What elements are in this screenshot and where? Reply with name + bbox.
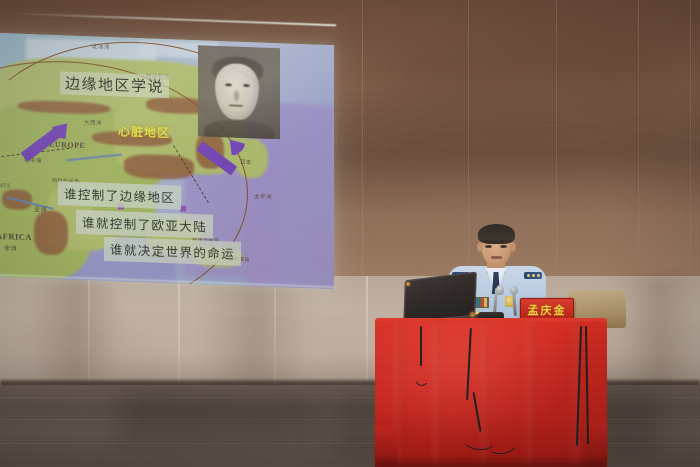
curtain-shade: [620, 276, 700, 386]
map-label-ocean-arctic: 北冰洋: [92, 42, 110, 51]
portrait-eye-left: [225, 83, 232, 86]
map-label-asia: 亚洲: [34, 204, 47, 213]
slide-line-2: 谁就控制了欧亚大陆: [76, 210, 213, 239]
eyebrow-right: [499, 240, 507, 242]
epaulette-right: [524, 272, 542, 279]
slide-title: 边缘地区学说: [60, 71, 169, 98]
lecture-photo-scene: EUROPE AFRICA MTS 亚洲 非洲 大西洋 印度洋 太平洋 北冰洋 …: [0, 0, 700, 467]
curtain-highlight: [400, 180, 700, 230]
portrait-shoulders: [204, 119, 274, 139]
speaker-hair: [478, 224, 515, 244]
curtain-shadow: [330, 110, 690, 166]
ear-right: [510, 242, 516, 252]
map-label-japan: 日本: [240, 158, 252, 166]
cloth-fold: [525, 322, 534, 467]
speaker-nameplate-text: 孟庆金: [528, 302, 567, 318]
portrait-eye-right: [243, 84, 250, 87]
map-label-africa: AFRICA: [0, 231, 32, 242]
microphone-head-secondary[interactable]: [510, 286, 518, 295]
microphone-head[interactable]: [496, 285, 504, 295]
eyebrow-left: [485, 240, 493, 242]
slide-line-3: 谁就决定世界的命运: [104, 237, 241, 266]
slide-heartland-label: 心脏地区: [118, 122, 170, 141]
eye-right: [500, 245, 507, 248]
portrait-nose: [234, 91, 239, 101]
laptop-indicator-light: [406, 282, 410, 286]
cloth-hem-shadow: [375, 455, 607, 467]
stage-shadow: [120, 392, 320, 442]
projection-screen: EUROPE AFRICA MTS 亚洲 非洲 大西洋 印度洋 太平洋 北冰洋 …: [0, 8, 336, 288]
slide-line-1: 谁控制了边缘地区: [58, 181, 181, 210]
curtain-shade: [30, 276, 120, 386]
curtain-shadow: [380, 40, 680, 100]
eye-left: [485, 245, 492, 248]
laptop-indicator-light: [470, 312, 475, 317]
map-label-mts: MTS: [0, 183, 11, 189]
curtain-fold: [366, 276, 368, 386]
ear-left: [477, 242, 483, 252]
map-label-ocean-atlantic: 大西洋: [84, 118, 102, 127]
projected-slide: EUROPE AFRICA MTS 亚洲 非洲 大西洋 印度洋 太平洋 北冰洋 …: [0, 33, 334, 289]
map-label-africa-cn: 非洲: [4, 243, 17, 252]
cloth-fold: [431, 322, 440, 467]
spykman-portrait-photo: [198, 45, 280, 139]
mouth: [491, 256, 502, 259]
map-label-ocean-pacific: 太平洋: [254, 192, 272, 201]
